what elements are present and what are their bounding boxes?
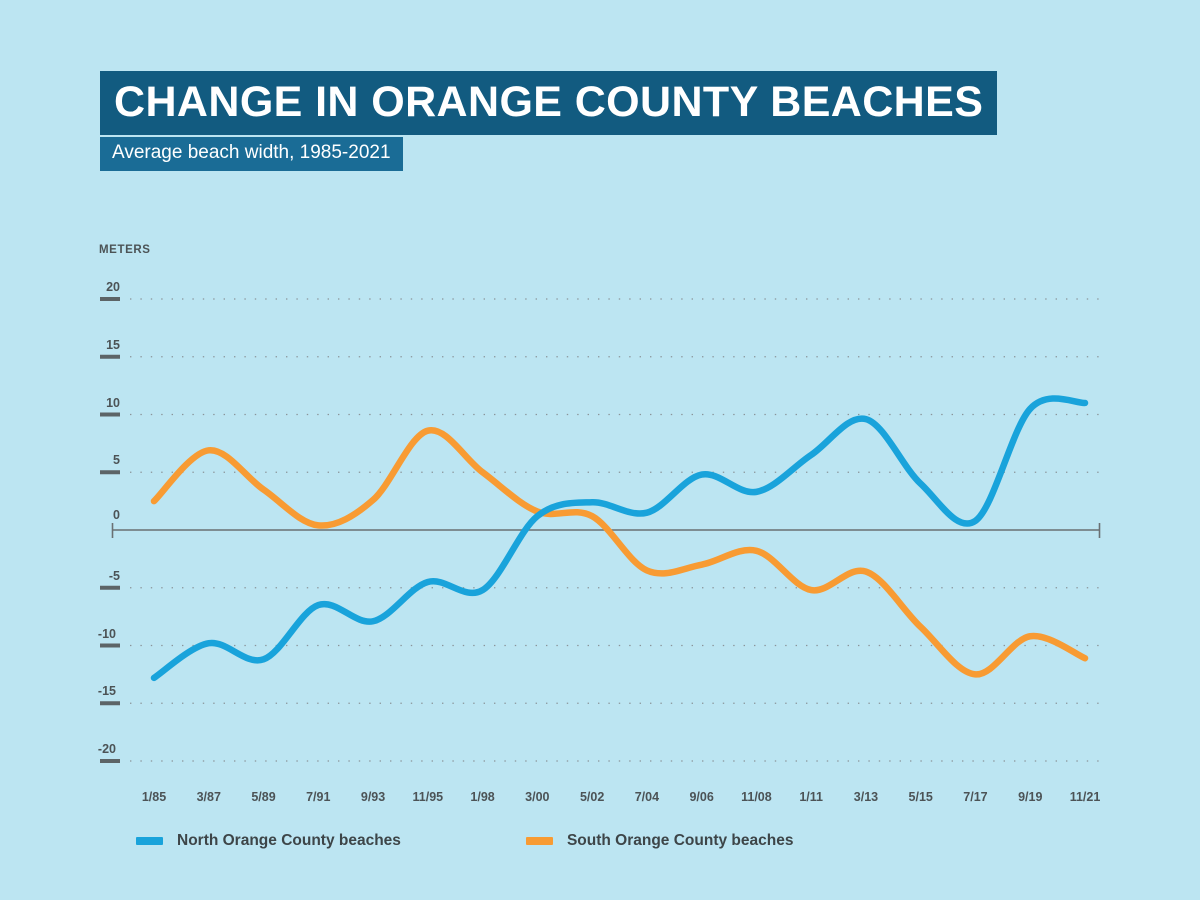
line-chart-plot [0,0,1200,900]
x-tick-label: 3/87 [197,790,221,804]
x-tick-label: 11/21 [1070,790,1101,804]
y-tick-label: 5 [92,453,120,467]
y-tick-label: -15 [88,684,116,698]
legend-label-north: North Orange County beaches [177,832,401,850]
chart-canvas: CHANGE IN ORANGE COUNTY BEACHES Average … [0,0,1200,900]
y-tick-label: -5 [92,569,120,583]
x-tick-label: 1/85 [142,790,166,804]
x-tick-label: 5/15 [909,790,933,804]
x-tick-label: 7/04 [635,790,659,804]
y-tick-label: 15 [92,338,120,352]
legend-label-south: South Orange County beaches [567,832,794,850]
chart-legend: North Orange County beaches South Orange… [136,832,793,850]
south-orange-county-line [154,430,1085,674]
legend-item-south[interactable]: South Orange County beaches [526,832,794,850]
x-tick-label: 1/98 [470,790,494,804]
y-tick-label: -10 [88,627,116,641]
x-tick-label: 9/06 [689,790,713,804]
x-tick-label: 7/17 [963,790,987,804]
legend-item-north[interactable]: North Orange County beaches [136,832,401,850]
y-tick-label: 20 [92,280,120,294]
x-tick-label: 11/95 [413,790,444,804]
y-tick-label: -20 [88,742,116,756]
x-tick-label: 9/19 [1018,790,1042,804]
north-orange-county-line [154,398,1085,677]
x-tick-label: 3/00 [525,790,549,804]
x-tick-label: 9/93 [361,790,385,804]
x-tick-label: 11/08 [741,790,772,804]
x-tick-label: 5/02 [580,790,604,804]
legend-swatch-south-icon [526,837,553,845]
legend-swatch-north-icon [136,837,163,845]
x-tick-label: 1/11 [799,790,823,804]
x-tick-label: 3/13 [854,790,878,804]
x-tick-label: 5/89 [251,790,275,804]
y-tick-label: 0 [92,508,120,522]
y-tick-label: 10 [92,396,120,410]
x-tick-label: 7/91 [306,790,330,804]
